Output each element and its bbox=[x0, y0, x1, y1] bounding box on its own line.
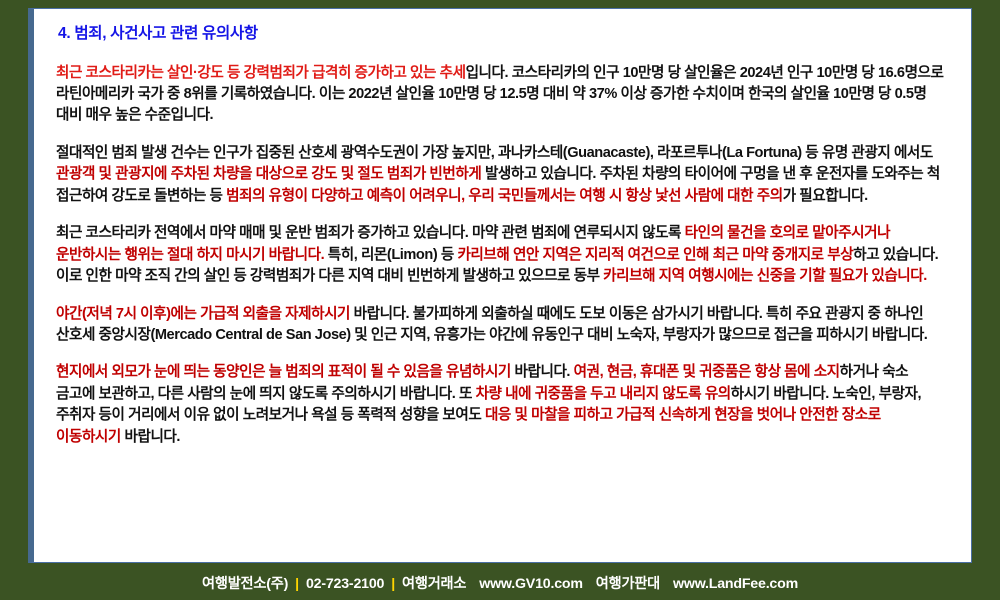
text-run-black: 특히, 리몬(Limon) 등 bbox=[324, 247, 457, 263]
page-title: 4. 범죄, 사건사고 관련 유의사항 bbox=[58, 25, 949, 44]
text-run-black: 바랍니다. bbox=[511, 364, 574, 380]
footer-contact-line: 여행발전소(주) | 02-723-2100 | 여행거래소 www.GV10.… bbox=[202, 573, 798, 593]
text-run-red-dark: 범죄의 유형이 다양하고 예측이 어려우니, 우리 국민들께서는 여행 시 항상… bbox=[226, 188, 783, 204]
paragraph-p1-violent-crime: 최근 코스타리카는 살인·강도 등 강력범죄가 급격히 증가하고 있는 추세입니… bbox=[56, 63, 949, 127]
text-run-red-dark: 카리브해 연안 지역은 지리적 여건으로 인해 최근 마약 중개지로 부상 bbox=[457, 247, 853, 263]
footer-service-1-url[interactable]: www.GV10.com bbox=[466, 576, 583, 592]
text-run-red-dark: 차량 내에 귀중품을 두고 내리지 않도록 유의 bbox=[476, 386, 731, 402]
text-run-black: 최근 코스타리카 전역에서 마약 매매 및 운반 범죄가 증가하고 있습니다. … bbox=[56, 225, 685, 241]
page-root: 4. 범죄, 사건사고 관련 유의사항 최근 코스타리카는 살인·강도 등 강력… bbox=[0, 0, 1000, 600]
footer-service-2-url[interactable]: www.LandFee.com bbox=[660, 576, 798, 592]
footer-separator-1: | bbox=[288, 576, 306, 592]
paragraph-p2-tourist-areas: 절대적인 범죄 발생 건수는 인구가 집중된 산호세 광역수도권이 가장 높지만… bbox=[56, 143, 949, 207]
footer-service-2-label: 여행가판대 bbox=[583, 573, 660, 593]
text-run-black: 가 필요합니다. bbox=[783, 188, 868, 204]
footer-separator-2: | bbox=[384, 576, 402, 592]
text-run-red-dark: 현지에서 외모가 눈에 띄는 동양인은 늘 범죄의 표적이 될 수 있음을 유념… bbox=[56, 364, 511, 380]
document-content-card: 4. 범죄, 사건사고 관련 유의사항 최근 코스타리카는 살인·강도 등 강력… bbox=[28, 8, 972, 563]
paragraph-p3-drug-crime: 최근 코스타리카 전역에서 마약 매매 및 운반 범죄가 증가하고 있습니다. … bbox=[56, 223, 949, 287]
footer-bar: 여행발전소(주) | 02-723-2100 | 여행거래소 www.GV10.… bbox=[0, 566, 1000, 600]
text-run-red-dark: 여권, 현금, 휴대폰 및 귀중품은 항상 몸에 소지 bbox=[574, 364, 840, 380]
text-run-black: 절대적인 범죄 발생 건수는 인구가 집중된 산호세 광역수도권이 가장 높지만… bbox=[56, 145, 936, 161]
footer-company-name: 여행발전소(주) bbox=[202, 573, 288, 593]
footer-phone-number[interactable]: 02-723-2100 bbox=[306, 576, 384, 592]
text-run-red-dark: 야간(저녁 7시 이후)에는 가급적 외출을 자제하시기 bbox=[56, 306, 350, 322]
paragraph-list: 최근 코스타리카는 살인·강도 등 강력범죄가 급격히 증가하고 있는 추세입니… bbox=[56, 63, 949, 449]
paragraph-p5-valuables-and-conflict: 현지에서 외모가 눈에 띄는 동양인은 늘 범죄의 표적이 될 수 있음을 유념… bbox=[56, 362, 949, 448]
text-run-black: 바랍니다. bbox=[121, 429, 180, 445]
text-run-red-bright: 최근 코스타리카는 살인·강도 등 강력범죄가 급격히 증가하고 있는 추세 bbox=[56, 65, 466, 81]
text-run-red-dark: 카리브해 지역 여행시에는 신중을 기할 필요가 있습니다. bbox=[603, 268, 927, 284]
paragraph-p4-night-travel: 야간(저녁 7시 이후)에는 가급적 외출을 자제하시기 바랍니다. 불가피하게… bbox=[56, 304, 949, 347]
footer-service-1-label: 여행거래소 bbox=[402, 573, 466, 593]
text-run-red-dark: 관광객 및 관광지에 주차된 차량을 대상으로 강도 및 절도 범죄가 빈번하게 bbox=[56, 166, 481, 182]
